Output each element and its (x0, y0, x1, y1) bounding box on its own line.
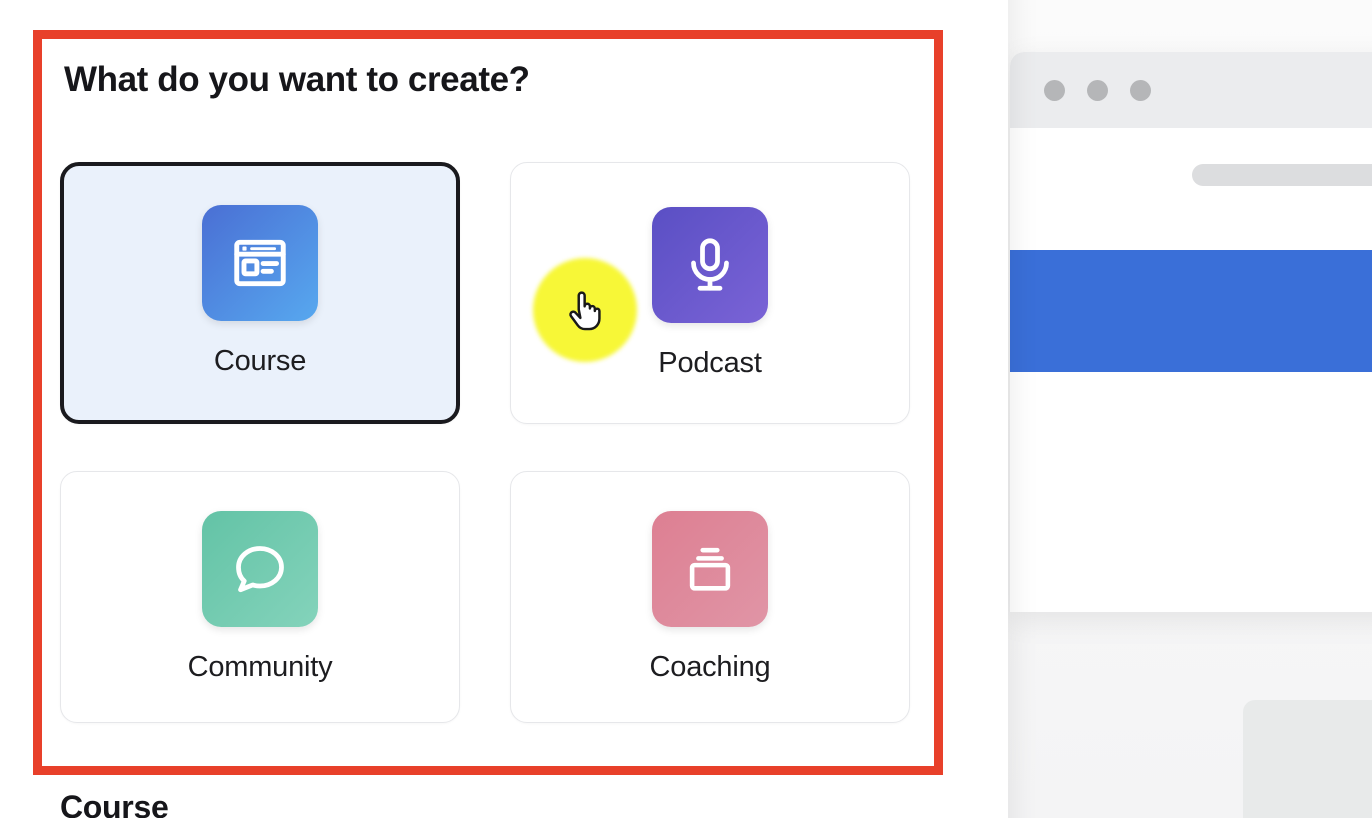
browser-titlebar (1010, 52, 1372, 128)
browser-content (1010, 128, 1372, 612)
screen: What do you want to create? Course (0, 0, 1372, 818)
create-type-grid: Course Podcast (60, 162, 915, 723)
speech-bubble-icon (202, 511, 318, 627)
option-card-community[interactable]: Community (60, 471, 460, 723)
window-dot-1-icon (1044, 80, 1065, 101)
page-title: What do you want to create? (64, 60, 530, 100)
option-card-course[interactable]: Course (60, 162, 460, 424)
card-stack-icon (652, 511, 768, 627)
hero-banner-block (1010, 250, 1372, 372)
option-label-coaching: Coaching (650, 651, 771, 684)
placeholder-pill (1192, 164, 1372, 186)
browser-mockup (1010, 52, 1372, 612)
section-heading-below: Course (60, 789, 168, 818)
microphone-icon (652, 207, 768, 323)
pointing-hand-cursor-icon (562, 288, 604, 334)
option-label-community: Community (188, 651, 333, 684)
option-card-coaching[interactable]: Coaching (510, 471, 910, 723)
create-type-chooser: What do you want to create? Course (33, 30, 943, 775)
browser-layout-icon (202, 205, 318, 321)
window-dot-2-icon (1087, 80, 1108, 101)
mockup-gray-card (1243, 700, 1372, 818)
option-label-podcast: Podcast (658, 347, 761, 380)
window-dot-3-icon (1130, 80, 1151, 101)
option-label-course: Course (214, 345, 306, 378)
option-card-podcast[interactable]: Podcast (510, 162, 910, 424)
